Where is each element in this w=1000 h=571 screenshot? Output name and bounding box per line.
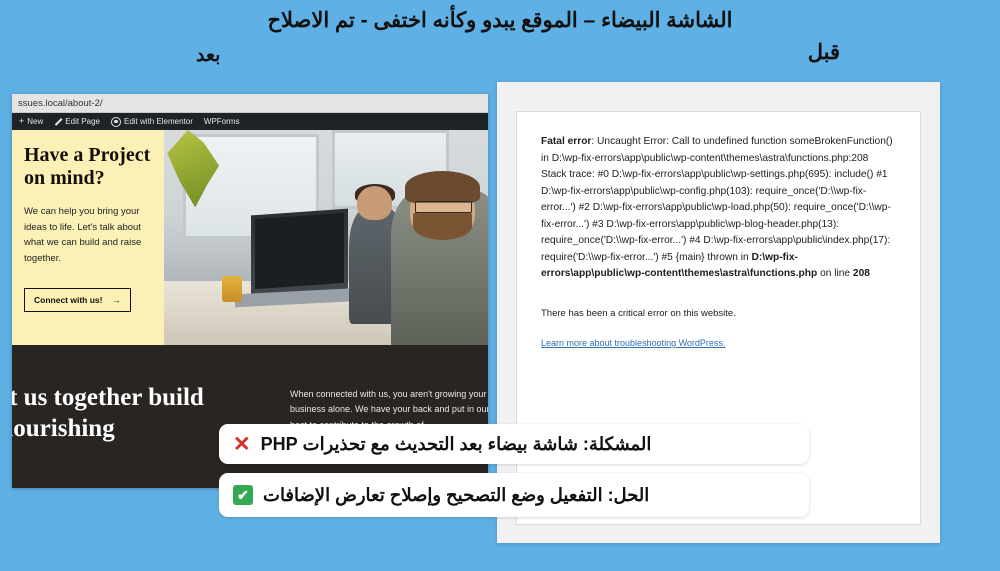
plus-icon: + (19, 117, 24, 126)
fatal-error-line: 208 (853, 268, 870, 279)
admin-bar-item-new[interactable]: + New (19, 117, 43, 126)
hero-text-column: Have a Project on mind? We can help you … (12, 130, 164, 345)
connect-with-us-button[interactable]: Connect with us! → (24, 288, 131, 312)
hero-paragraph: We can help you bring your ideas to life… (24, 204, 152, 266)
photo-person-front-hair (405, 171, 480, 203)
critical-error-text: There has been a critical error on this … (541, 308, 896, 319)
admin-bar-item-elementor[interactable]: Edit with Elementor (111, 117, 193, 127)
elementor-icon (111, 117, 121, 127)
fatal-error-label: Fatal error (541, 136, 591, 147)
browser-address-bar[interactable]: ssues.local/about-2/ (12, 94, 488, 113)
caption-solution: الحل: التفعيل وضع التصحيح وإصلاح تعارض ا… (219, 473, 809, 517)
arrow-right-icon: → (112, 295, 121, 305)
label-after: بعد (196, 44, 220, 67)
fatal-error-message: Fatal error: Uncaught Error: Call to und… (541, 134, 896, 283)
admin-bar-label-new: New (27, 117, 43, 126)
admin-bar-label-elementor: Edit with Elementor (124, 117, 193, 126)
pencil-icon (54, 118, 62, 126)
hero-section: Have a Project on mind? We can help you … (12, 130, 488, 345)
fatal-error-online: on line (817, 268, 853, 279)
troubleshooting-link[interactable]: Learn more about troubleshooting WordPre… (541, 338, 725, 348)
admin-bar-item-wpforms[interactable]: WPForms (204, 117, 240, 126)
green-check-icon: ✔ (233, 485, 253, 505)
caption-problem: المشكلة: شاشة بيضاء بعد التحديث مع تحذير… (219, 424, 809, 464)
photo-person-front-beard (413, 212, 471, 240)
url-text: ssues.local/about-2/ (18, 98, 103, 109)
caption-solution-text: الحل: التفعيل وضع التصحيح وإصلاح تعارض ا… (263, 485, 649, 506)
hero-photo (164, 130, 488, 345)
admin-bar-label-wpforms: WPForms (204, 117, 240, 126)
page-title: الشاشة البيضاء – الموقع يبدو وكأنه اختفى… (0, 8, 1000, 33)
red-x-icon: ✕ (233, 434, 251, 455)
photo-laptop-screen (255, 213, 344, 290)
caption-problem-text: المشكلة: شاشة بيضاء بعد التحديث مع تحذير… (261, 434, 652, 455)
photo-desk-object (222, 276, 241, 302)
dark-cta-section: et us together build flourishing When co… (12, 345, 488, 488)
label-before: قبل (808, 40, 840, 65)
admin-bar-item-edit-page[interactable]: Edit Page (54, 117, 100, 126)
hero-heading: Have a Project on mind? (24, 144, 152, 190)
fatal-error-body: : Uncaught Error: Call to undefined func… (541, 136, 893, 263)
wp-admin-bar: + New Edit Page Edit with Elementor WPFo… (12, 113, 488, 130)
connect-button-label: Connect with us! (34, 295, 102, 305)
photo-laptop (251, 208, 348, 296)
photo-person-glasses (415, 201, 472, 213)
photo-person-back-head (357, 186, 393, 220)
admin-bar-label-edit-page: Edit Page (65, 117, 100, 126)
